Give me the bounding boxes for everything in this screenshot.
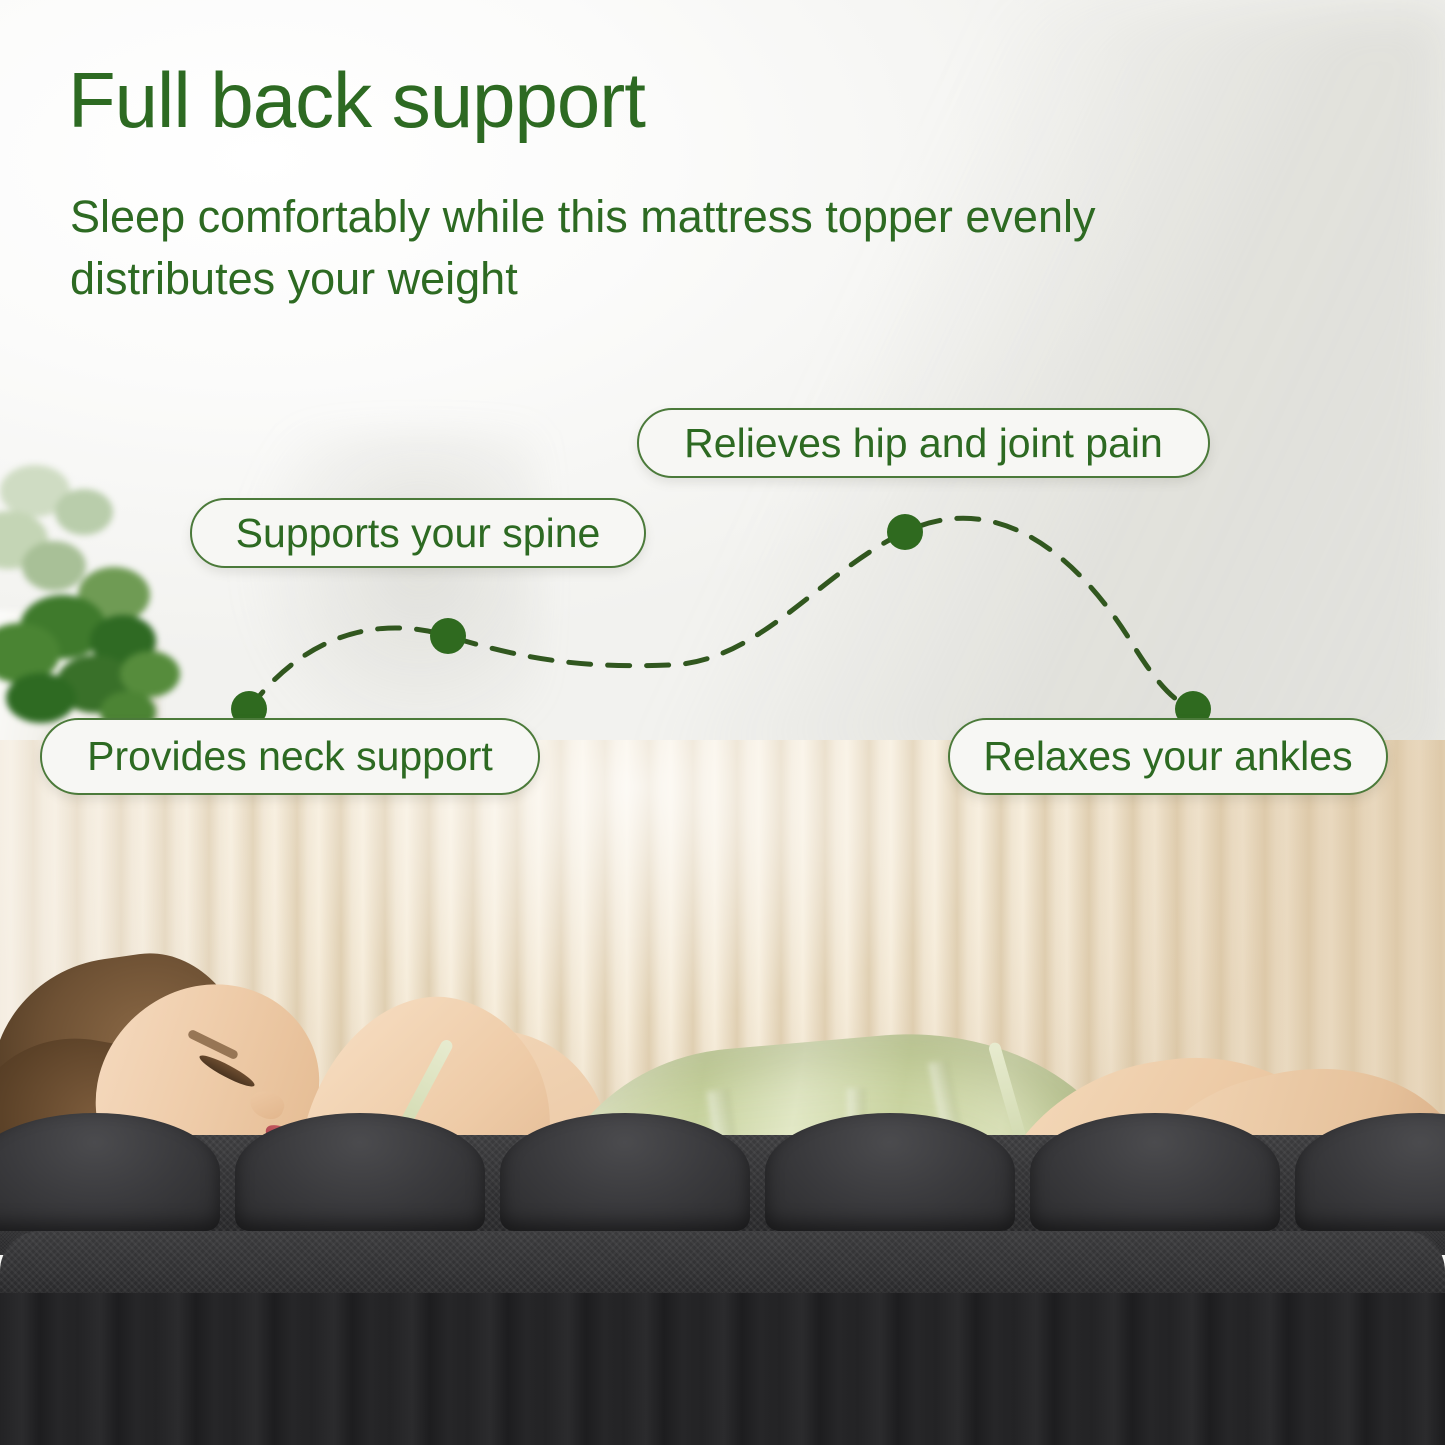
mattress-topper: [0, 1135, 1445, 1445]
callout-hip[interactable]: Relieves hip and joint pain: [637, 408, 1210, 478]
wall-shadow-secondary: [240, 430, 540, 760]
topper-box-5: [1030, 1113, 1280, 1231]
topper-box-2: [235, 1113, 485, 1231]
callout-neck[interactable]: Provides neck support: [40, 718, 540, 795]
callout-spine[interactable]: Supports your spine: [190, 498, 646, 568]
page-subtitle: Sleep comfortably while this mattress to…: [70, 186, 1120, 310]
topper-edge-band: [0, 1231, 1445, 1301]
wall-shadow: [560, 0, 1445, 780]
product-photo: [0, 740, 1445, 1445]
topper-band-texture: [0, 1231, 1445, 1301]
topper-box-4: [765, 1113, 1015, 1231]
page-title: Full back support: [68, 60, 645, 142]
infographic-canvas: Full back support Sleep comfortably whil…: [0, 0, 1445, 1445]
callout-ankle[interactable]: Relaxes your ankles: [948, 718, 1388, 795]
topper-side-panel: [0, 1293, 1445, 1445]
topper-box-3: [500, 1113, 750, 1231]
